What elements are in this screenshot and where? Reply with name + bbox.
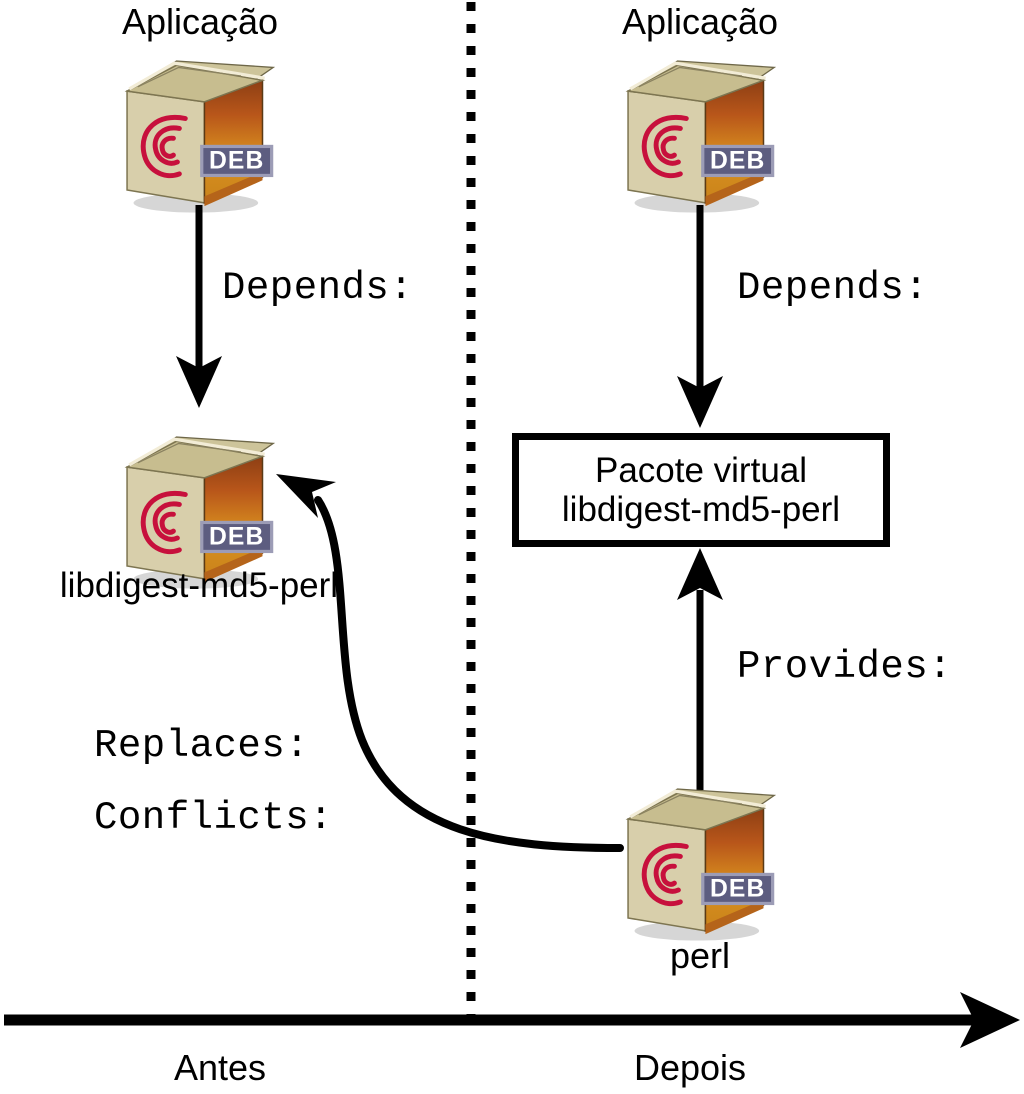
virtual-package-name: libdigest-md5-perl	[562, 490, 840, 529]
app-package-icon-right	[628, 61, 774, 213]
virtual-package-box: Pacote virtual libdigest-md5-perl	[512, 433, 890, 547]
conflicts-label: Conflicts:	[94, 799, 333, 838]
timeline-axis-arrow	[4, 992, 1020, 1048]
app-label-left: Aplicação	[60, 4, 340, 40]
app-package-icon-left	[127, 61, 273, 213]
timeline-label-antes: Antes	[110, 1050, 330, 1086]
diagram-vector-layer: DEB	[0, 0, 1024, 1094]
depends-arrow-left	[176, 205, 222, 408]
virtual-package-title: Pacote virtual	[595, 451, 807, 490]
timeline-label-depois: Depois	[580, 1050, 800, 1086]
perl-package-icon	[628, 789, 774, 941]
depends-label-left: Depends:	[222, 269, 413, 308]
libdigest-md5-perl-label: libdigest-md5-perl	[4, 568, 394, 603]
provides-arrow	[677, 548, 723, 790]
replaces-label: Replaces:	[94, 727, 309, 766]
provides-label: Provides:	[737, 648, 952, 687]
perl-label: perl	[610, 938, 790, 974]
app-label-right: Aplicação	[560, 4, 840, 40]
diagram-canvas: DEB	[0, 0, 1024, 1094]
depends-label-right: Depends:	[737, 269, 928, 308]
depends-arrow-right	[677, 205, 723, 428]
